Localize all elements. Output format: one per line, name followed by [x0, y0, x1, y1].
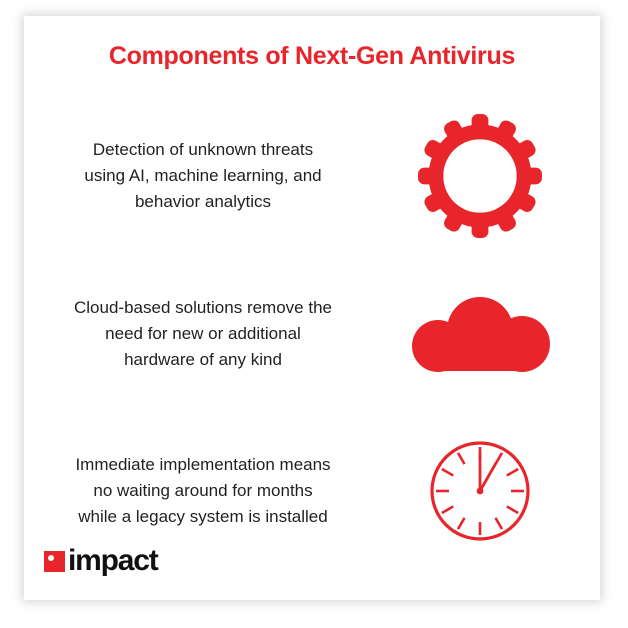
feature-text-3-line-3: while a legacy system is installed — [46, 504, 360, 530]
feature-text-2-line-3: hardware of any kind — [46, 347, 360, 373]
feature-text-1-line-3: behavior analytics — [46, 189, 360, 215]
impact-logo-wordmark: impact — [68, 548, 158, 574]
feature-text-1: Detection of unknown threats using AI, m… — [24, 137, 360, 215]
impact-logo-dot-icon — [48, 555, 54, 561]
feature-text-1-line-2: using AI, machine learning, and — [46, 163, 360, 189]
feature-text-1-line-1: Detection of unknown threats — [46, 137, 360, 163]
clock-icon — [428, 439, 532, 543]
page-title: Components of Next-Gen Antivirus — [24, 42, 600, 71]
feature-text-2: Cloud-based solutions remove the need fo… — [24, 295, 360, 373]
feature-row-2: Cloud-based solutions remove the need fo… — [24, 259, 600, 409]
feature-text-2-line-1: Cloud-based solutions remove the — [46, 295, 360, 321]
gear-icon — [417, 113, 543, 239]
content-card: Components of Next-Gen Antivirus Detecti… — [24, 16, 600, 600]
feature-icon-slot-3 — [360, 416, 600, 566]
feature-text-2-line-2: need for new or additional — [46, 321, 360, 347]
impact-logo[interactable]: impact — [44, 548, 158, 574]
infographic-root: Components of Next-Gen Antivirus Detecti… — [0, 0, 628, 628]
feature-text-3-line-2: no waiting around for months — [46, 478, 360, 504]
impact-logo-mark-icon — [44, 551, 65, 572]
feature-text-3-line-1: Immediate implementation means — [46, 452, 360, 478]
feature-icon-slot-1 — [360, 101, 600, 251]
cloud-icon — [404, 294, 556, 374]
feature-row-1: Detection of unknown threats using AI, m… — [24, 101, 600, 251]
feature-icon-slot-2 — [360, 259, 600, 409]
feature-text-3: Immediate implementation means no waitin… — [24, 452, 360, 530]
